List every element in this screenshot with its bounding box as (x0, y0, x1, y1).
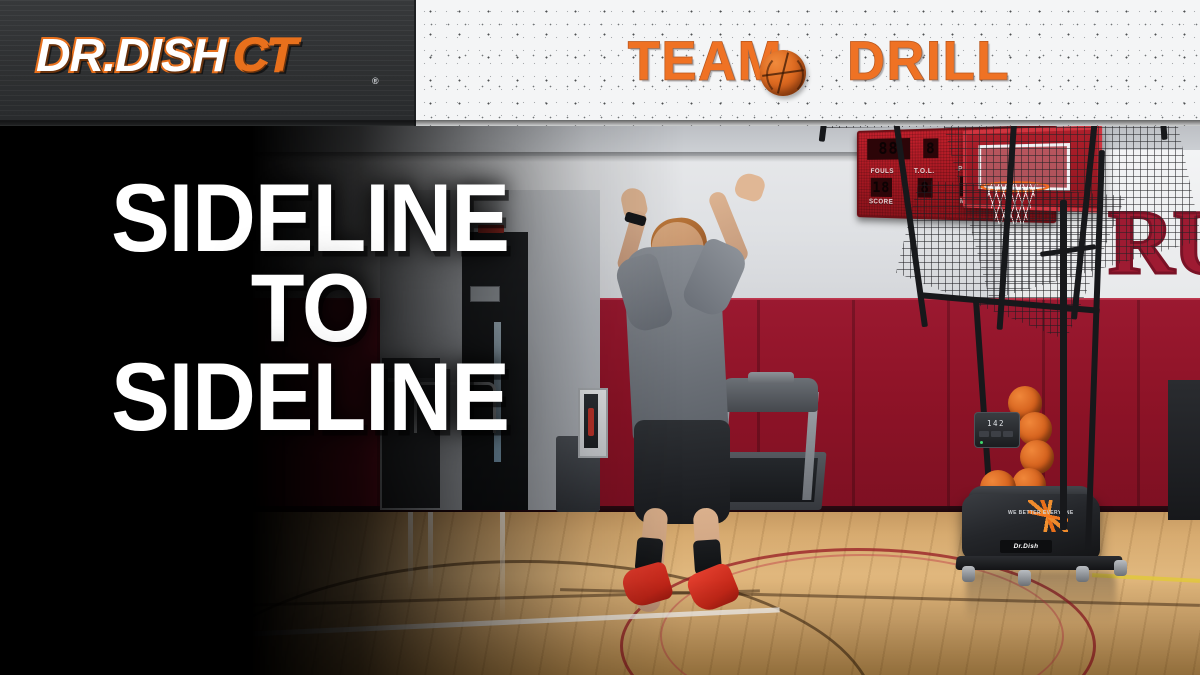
tablet-button-set[interactable] (979, 431, 989, 437)
tablet-button-start[interactable] (991, 431, 1001, 437)
floor-reflection-3 (500, 512, 505, 622)
machine-base (955, 556, 1122, 570)
led-green-icon (980, 441, 983, 444)
floor-reflection-1 (408, 512, 413, 592)
shooting-player (600, 170, 830, 620)
header-bar: DR.DISHCT ® TEAMDRILL (0, 0, 1200, 126)
floor-reflection-2 (428, 512, 433, 592)
machine-caster-2 (1018, 570, 1031, 586)
banner-word-2: DRILL (847, 31, 1010, 92)
banner-title: TEAMDRILL (628, 34, 1010, 89)
scoreboard-label-tol: T.O.L. (914, 168, 935, 175)
brand-name-white: DR.DISH (36, 29, 225, 81)
tablet-button-end[interactable] (1003, 431, 1013, 437)
scoreboard-label-score: SCORE (869, 199, 893, 206)
tablet-button-row[interactable] (979, 431, 1013, 437)
title-line-2: TO (0, 266, 620, 349)
machine-floor-reflection (966, 572, 1116, 622)
machine-brand-badge: Dr.Dish (1000, 540, 1052, 553)
title-line-1: SIDELINE (0, 176, 620, 259)
player-shoe-right (684, 561, 742, 615)
player-hand-right (733, 170, 768, 203)
scoreboard-fouls-value: 18 (871, 178, 892, 197)
page-title: SIDELINE TO SIDELINE (0, 176, 620, 439)
title-line-3: SIDELINE (0, 356, 620, 439)
header-bottom-shadow (0, 120, 1200, 126)
basketball-seam (766, 54, 804, 96)
brand-logo: DR.DISHCT (36, 32, 295, 78)
video-thumbnail: RU (0, 0, 1200, 675)
scoreboard-mid-value: 8 (923, 138, 938, 158)
trademark-symbol: ® (372, 76, 379, 86)
machine-caster-1 (962, 566, 975, 582)
brand-name-orange: CT (234, 29, 296, 81)
machine-brand-label: Dr.Dish (1000, 540, 1052, 553)
scoreboard-label-fouls: FOULS (871, 168, 894, 175)
tablet-value: 142 (978, 418, 1014, 430)
machine-caster-4 (1114, 560, 1127, 576)
header-divider (414, 0, 416, 126)
machine-caster-3 (1076, 566, 1089, 582)
banner-word-1: TEAM (628, 31, 783, 92)
rig-post-left (1060, 200, 1067, 530)
player-shoe-left (620, 560, 675, 609)
gym-pillar (1168, 380, 1200, 520)
